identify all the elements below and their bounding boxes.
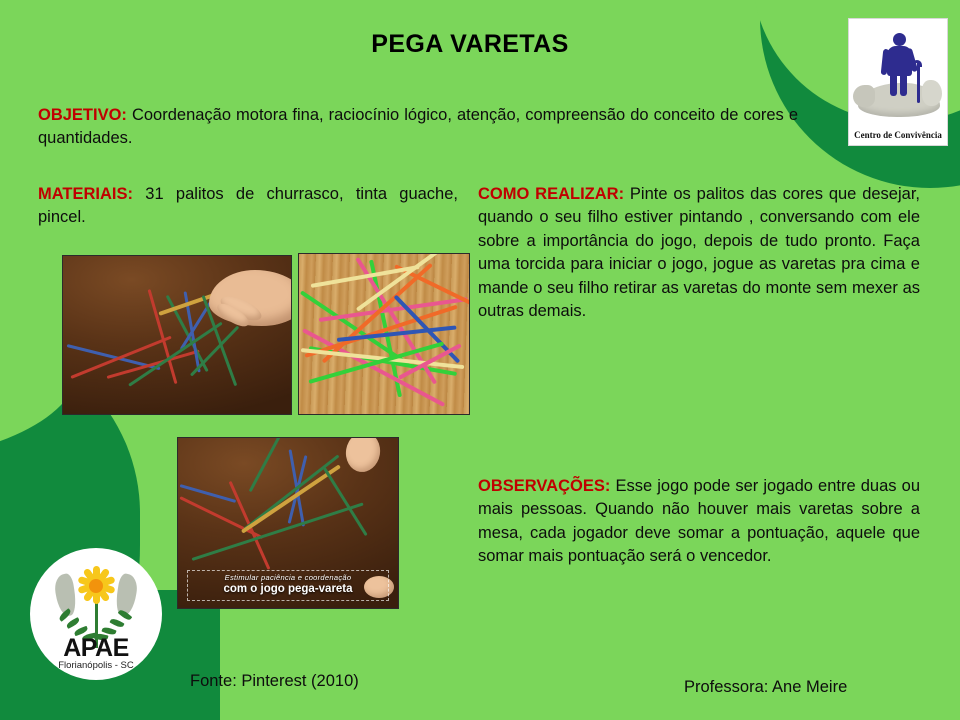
stick-cream	[311, 265, 420, 288]
stick-yellow	[241, 464, 341, 533]
stick-green	[202, 295, 238, 386]
photo2-sticks	[299, 254, 469, 414]
section-objetivo-body: Coordenação motora fina, raciocínio lógi…	[38, 106, 798, 147]
finger	[214, 300, 252, 331]
teacher-label: Professora: Ane Meire	[684, 678, 847, 697]
stick-red	[148, 289, 178, 384]
section-como-realizar: COMO REALIZAR: Pinte os palitos das core…	[478, 183, 920, 324]
stick-green	[243, 454, 339, 530]
source-label: Fonte: Pinterest (2010)	[190, 672, 359, 691]
stick-green	[309, 346, 457, 376]
stick-orange	[304, 305, 457, 358]
person-leg-left-icon	[890, 74, 897, 96]
stick-red	[179, 496, 263, 539]
logo-apae: APAE Florianópolis - SC	[30, 548, 162, 680]
finger	[364, 576, 394, 598]
stick-blue	[288, 455, 308, 524]
section-observacoes: OBSERVAÇÕES: Esse jogo pode ser jogado e…	[478, 475, 920, 569]
section-como-realizar-label: COMO REALIZAR:	[478, 185, 624, 203]
stick-red	[107, 350, 200, 379]
finger	[217, 292, 264, 325]
apae-hand-right-icon	[114, 573, 139, 617]
stick-red	[229, 481, 271, 570]
logo-apae-name: APAE	[30, 636, 162, 661]
slide-canvas: PEGA VARETAS OBJETIVO: Coordenação motor…	[0, 0, 960, 720]
section-materiais: MATERIAIS: 31 palitos de churrasco, tint…	[38, 183, 458, 230]
stick-green	[323, 467, 368, 536]
stick-green	[190, 326, 239, 377]
section-como-realizar-body: Pinte os palitos das cores que desejar, …	[478, 185, 920, 320]
person-leg-right-icon	[900, 74, 907, 96]
logo-centro-label: Centro de Convivência	[849, 130, 947, 140]
stick-blue	[67, 344, 161, 370]
stick-blue	[337, 325, 457, 342]
stick-orange	[394, 264, 470, 307]
leaf-icon	[65, 617, 80, 629]
logo-centro-de-convivencia: Centro de Convivência	[848, 18, 948, 146]
hand-thumb-icon	[853, 85, 875, 107]
section-observacoes-label: OBSERVAÇÕES:	[478, 477, 610, 495]
photo-colored-sticks-on-wood	[298, 253, 470, 415]
stick-green	[308, 341, 444, 383]
stick-pink	[355, 257, 437, 385]
stick-blue	[180, 281, 225, 350]
decor-bottom-left-strip	[0, 610, 14, 720]
photo1-sticks	[63, 256, 291, 414]
stick-green	[128, 322, 223, 387]
stick-pink	[398, 343, 462, 379]
stick-green	[369, 260, 402, 398]
section-objetivo-label: OBJETIVO:	[38, 106, 127, 124]
stick-blue	[289, 449, 305, 526]
logo-apae-subtitle: Florianópolis - SC	[30, 660, 162, 671]
photo3-caption-line2: com o jogo pega-vareta	[190, 583, 386, 596]
stick-pink	[302, 328, 445, 407]
section-materiais-label: MATERIAIS:	[38, 185, 133, 203]
stick-green	[192, 502, 364, 560]
stick-cream	[356, 253, 457, 312]
hand-fingers-icon	[922, 80, 942, 106]
stick-blue	[184, 291, 201, 372]
photo3-caption-line1: Estimular paciência e coordenação	[190, 574, 386, 582]
sunflower-icon	[77, 566, 115, 604]
section-objetivo: OBJETIVO: Coordenação motora fina, racio…	[38, 104, 798, 151]
stick-pink	[319, 297, 468, 322]
finger	[343, 437, 383, 475]
leaf-icon	[109, 617, 124, 629]
stick-cream	[301, 348, 465, 369]
stick-red	[70, 336, 171, 379]
stick-yellow	[158, 281, 250, 316]
stick-blue	[394, 295, 461, 364]
photo3-sticks	[178, 438, 398, 608]
photo-hand-picking-sticks-caption: Estimular paciência e coordenação com o …	[177, 437, 399, 609]
person-head-icon	[893, 33, 906, 46]
stick-blue	[180, 484, 237, 503]
person-body-icon	[887, 46, 912, 76]
photo-hand-picking-sticks-dark-table	[62, 255, 292, 415]
stick-green	[249, 437, 293, 492]
hand	[209, 270, 292, 326]
page-title: PEGA VARETAS	[0, 30, 960, 59]
stick-green	[300, 290, 410, 366]
stick-orange	[322, 263, 433, 364]
stick-green	[166, 295, 209, 372]
photo3-caption: Estimular paciência e coordenação com o …	[187, 570, 389, 601]
